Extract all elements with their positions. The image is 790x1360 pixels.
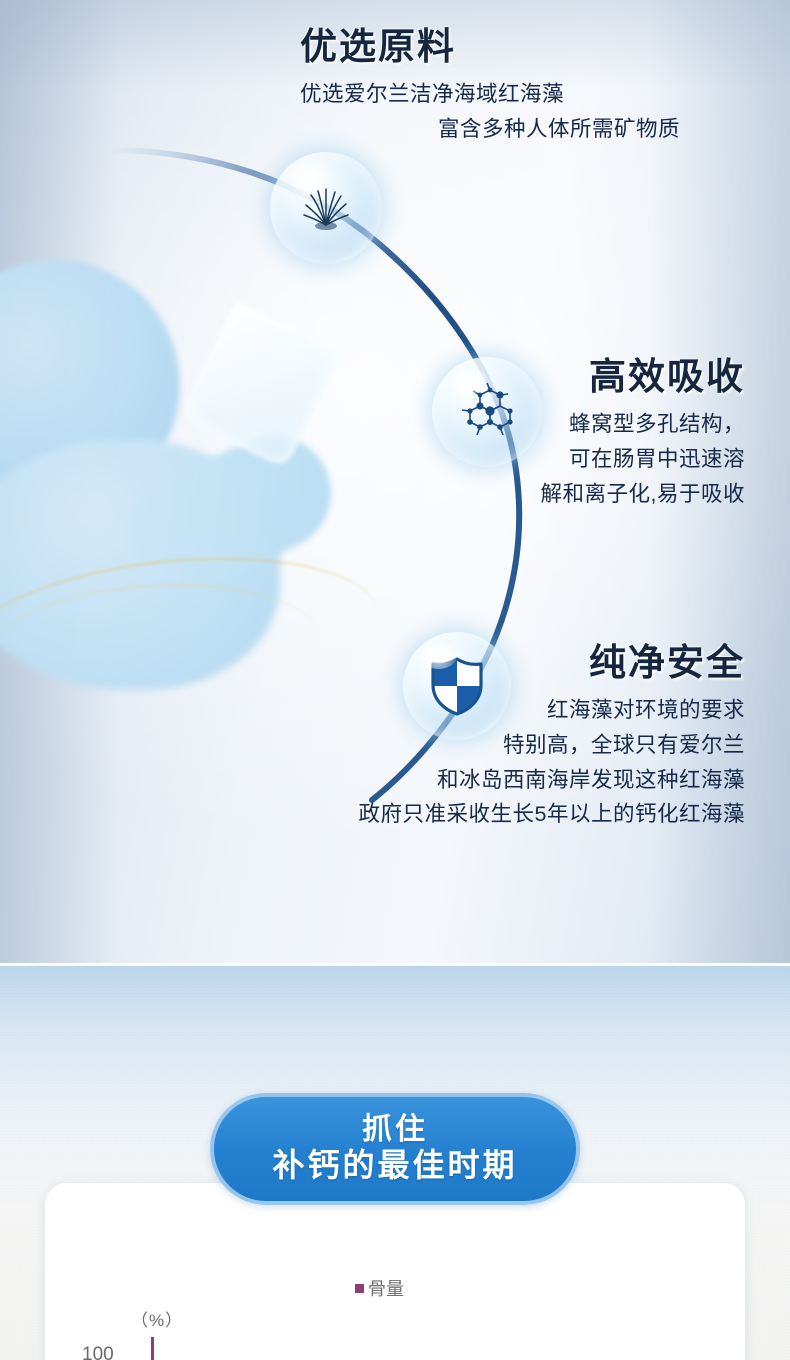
feature-line: 和冰岛西南海岸发现这种红海藻 (255, 763, 745, 798)
feature-line: 可在肠胃中迅速溶 (410, 442, 745, 477)
feature-line: 优选爱尔兰洁净海域红海藻 (300, 77, 680, 112)
badge-line-2: 补钙的最佳时期 (272, 1147, 517, 1185)
chart-legend: 骨量 (355, 1275, 404, 1301)
feature-title: 高效吸收 (410, 358, 745, 395)
product-detail-page: 优选原料 优选爱尔兰洁净海域红海藻 富含多种人体所需矿物质 高效吸收 蜂窝型多孔… (0, 0, 790, 1360)
feature-text-absorption: 高效吸收 蜂窝型多孔结构， 可在肠胃中迅速溶 解和离子化,易于吸收 (410, 358, 745, 511)
feature-line: 蜂窝型多孔结构， (410, 407, 745, 442)
y-axis-tick-label: 100 (82, 1344, 114, 1360)
section-title-badge: 抓住 补钙的最佳时期 (210, 1093, 580, 1205)
feature-line: 解和离子化,易于吸收 (410, 477, 745, 512)
feature-title: 优选原料 (300, 28, 680, 65)
feature-line: 红海藻对环境的要求 (255, 693, 745, 728)
seaweed-icon (295, 177, 357, 239)
legend-label: 骨量 (368, 1275, 404, 1301)
feature-text-raw-material: 优选原料 优选爱尔兰洁净海域红海藻 富含多种人体所需矿物质 (300, 28, 680, 147)
feature-title: 纯净安全 (255, 644, 745, 681)
y-axis-line (151, 1337, 154, 1360)
badge-line-1: 抓住 (362, 1113, 428, 1147)
feature-line: 富含多种人体所需矿物质 (300, 112, 680, 147)
features-panel: 优选原料 优选爱尔兰洁净海域红海藻 富含多种人体所需矿物质 高效吸收 蜂窝型多孔… (0, 0, 790, 966)
feature-bubble-raw-material (270, 152, 382, 264)
y-axis-unit-label: （%） (131, 1306, 183, 1331)
feature-line: 政府只准采收生长5年以上的钙化红海藻 (255, 797, 745, 832)
chart-card (45, 1183, 745, 1360)
feature-line: 特别高，全球只有爱尔兰 (255, 728, 745, 763)
feature-text-purity: 纯净安全 红海藻对环境的要求 特别高，全球只有爱尔兰 和冰岛西南海岸发现这种红海… (255, 644, 745, 832)
legend-marker-icon (355, 1284, 364, 1293)
section-divider (0, 963, 790, 966)
